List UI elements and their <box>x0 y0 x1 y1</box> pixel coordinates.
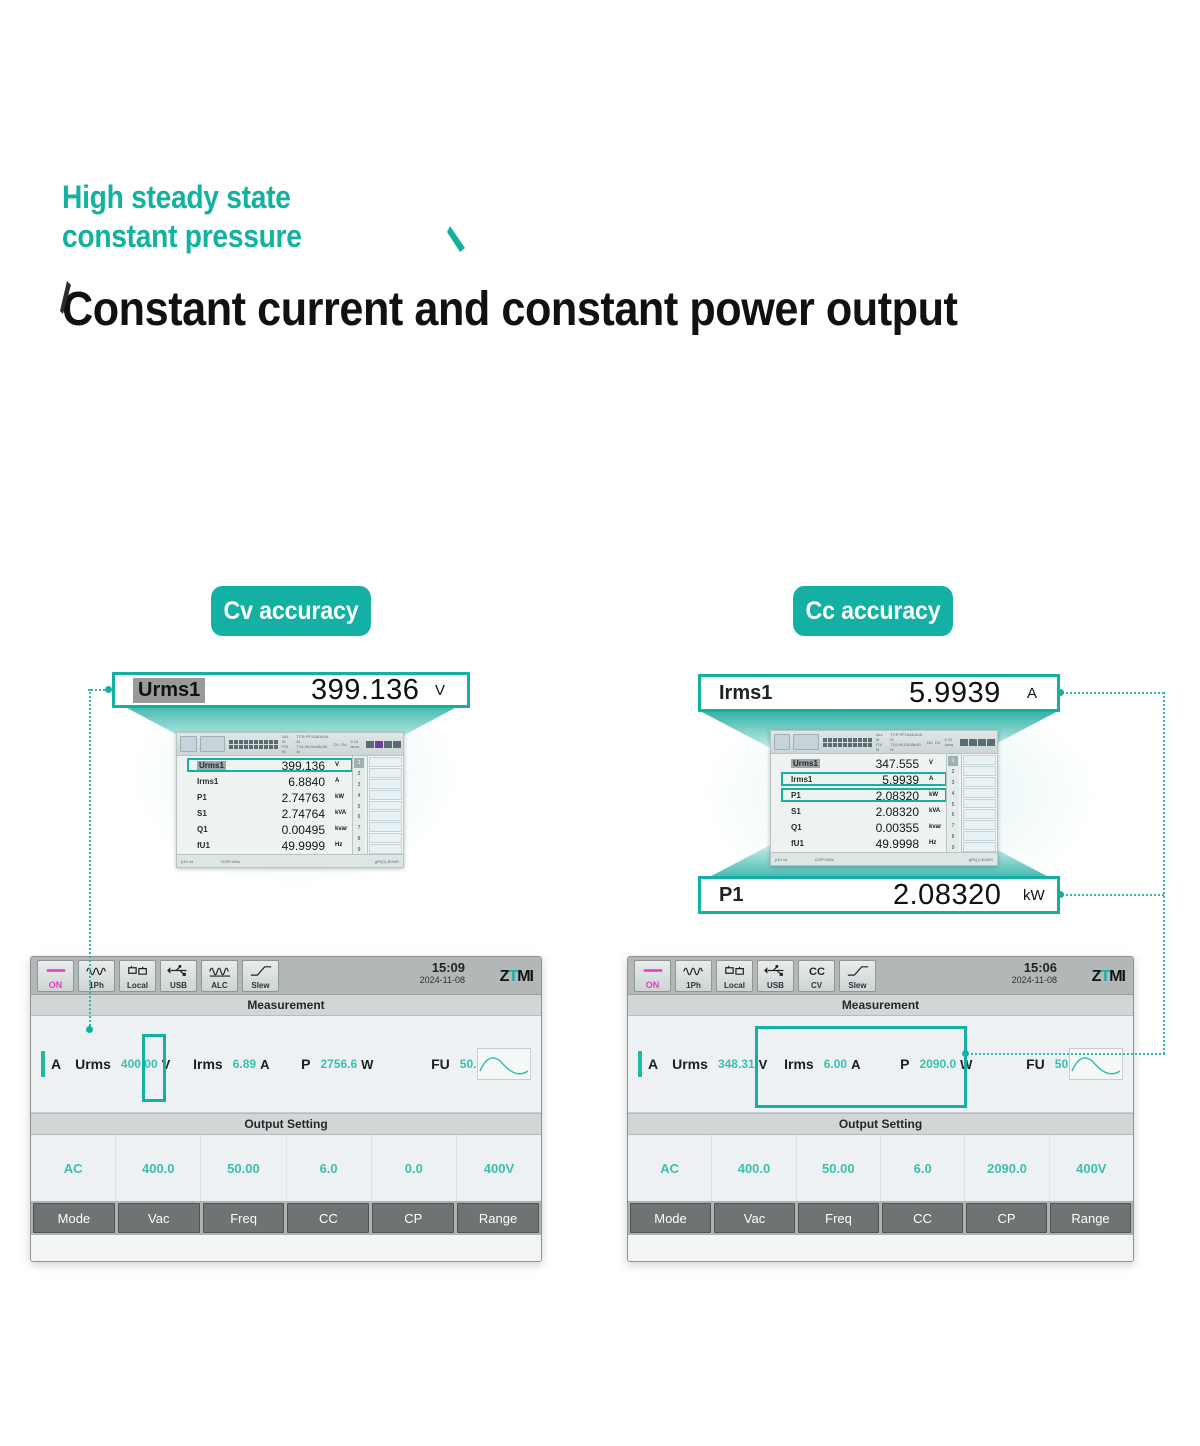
analyzer-status-text3: NU DX <box>927 740 941 745</box>
svg-text:CC: CC <box>809 966 825 977</box>
analyzer-row-value: 0.00355 <box>829 821 919 835</box>
device-clock: 15:06 2024-11-08 <box>1012 960 1057 986</box>
analyzer-soft-menu-item[interactable] <box>369 757 402 767</box>
device-measurement-area: AUrms400.00VIrms6.89AP2756.6WFU50.00Hz <box>31 1016 541 1113</box>
toolbar-button-alc[interactable]: ALC <box>201 960 238 992</box>
analyzer-row-unit: Hz <box>335 842 342 848</box>
analyzer-row-name: P1 <box>197 793 207 802</box>
analyzer-row: Urms1347.555V <box>779 755 945 771</box>
measurement-key: FU <box>1026 1056 1045 1072</box>
analyzer-indicator-bars <box>229 740 278 749</box>
analyzer-status-text4: 5 10 Area <box>350 739 366 749</box>
remote-icon <box>723 961 747 981</box>
output-value-4: 6.0 <box>287 1135 372 1201</box>
toolbar-button-label: ALC <box>211 981 227 990</box>
cc-callout-p1: P1 2.08320 kW <box>698 876 1060 914</box>
cc-connector-v <box>1163 692 1165 1054</box>
cc-callout-bottom-label: P1 <box>719 884 743 907</box>
toolbar-button-label: Local <box>724 981 745 990</box>
cc-callout-irms1: Irms1 5.9939 A <box>698 674 1060 712</box>
cc-accuracy-section: Cc accuracy Irms1 5.9939 A P1 2.08320 kW <box>600 0 1200 1446</box>
analyzer-soft-menu-item[interactable] <box>963 777 996 787</box>
analyzer-row-unit: kvar <box>335 826 347 832</box>
analyzer-soft-menu-item[interactable] <box>369 779 402 789</box>
device-measurement-row: AUrms400.00VIrms6.89AP2756.6WFU50.00Hz <box>31 1042 541 1086</box>
analyzer-row-unit: kvar <box>929 824 941 830</box>
usb-icon <box>764 964 788 977</box>
analyzer-row-name: Q1 <box>197 825 208 834</box>
sine-wave-icon <box>682 961 706 981</box>
analyzer-soft-menu-item[interactable] <box>963 831 996 841</box>
analyzer-row: fU149.9999Hz <box>185 837 351 853</box>
output-value-5: 2090.0 <box>965 1135 1049 1201</box>
analyzer-row-name: Irms1 <box>197 777 218 786</box>
cv-connector-end-dot <box>86 1026 93 1033</box>
cv-callout-connector-dot <box>105 686 112 693</box>
analyzer-side-index-item[interactable]: 7 <box>354 823 364 833</box>
measurement-irms: Irms6.89A <box>193 1056 301 1072</box>
analyzer-soft-menu-item[interactable] <box>369 811 402 821</box>
alc-wave-icon <box>208 964 232 977</box>
toolbar-button-label: Slew <box>251 981 269 990</box>
analyzer-row: Q10.00495kvar <box>185 821 351 837</box>
analyzer-soft-menu <box>367 756 403 855</box>
measurement-value: 2756.6 <box>320 1057 357 1071</box>
softkey-2[interactable]: Vac <box>714 1203 795 1233</box>
measurement-key: P <box>301 1056 310 1072</box>
analyzer-side-index-item[interactable]: 7 <box>948 821 958 831</box>
analyzer-soft-menu-item[interactable] <box>963 799 996 809</box>
analyzer-row-value: 2.74763 <box>235 791 325 805</box>
softkey-1[interactable]: Mode <box>33 1203 115 1233</box>
device-output-setting-label: Output Setting <box>31 1113 541 1135</box>
analyzer-soft-menu-item[interactable] <box>963 842 996 852</box>
analyzer-indicator-bars <box>823 738 872 747</box>
softkey-4[interactable]: CC <box>882 1203 963 1233</box>
device-output-values: AC400.050.006.02090.0400V <box>628 1135 1133 1201</box>
toolbar-button-label: 1Ph <box>686 981 701 990</box>
remote-icon <box>723 964 747 977</box>
usb-icon <box>167 961 191 981</box>
analyzer-soft-menu-item[interactable] <box>369 790 402 800</box>
toolbar-button-on[interactable]: ON <box>37 960 74 992</box>
toolbar-button-on[interactable]: ON <box>634 960 671 992</box>
power-line-icon <box>641 961 665 981</box>
analyzer-window-buttons <box>960 739 997 746</box>
analyzer-row-value: 6.8840 <box>235 775 325 789</box>
analyzer-row: S12.74764kVA <box>185 805 351 821</box>
device-time: 15:09 <box>420 960 465 975</box>
analyzer-row-value: 49.9999 <box>235 839 325 853</box>
brand-logo: ZTMI <box>1092 968 1125 986</box>
analyzer-statusbar: p10 n4 t22Pt t4Nu gFtt(1) $1N/R <box>177 854 403 867</box>
brand-logo: ZTMI <box>500 968 533 986</box>
analyzer-titlebar: ALL MFIX M TCR PF10ADA0A MT10-90,DA45u30… <box>177 733 403 756</box>
analyzer-side-index-item[interactable]: 3 <box>948 778 958 788</box>
measurement-key: FU <box>431 1056 450 1072</box>
analyzer-row-value: 347.555 <box>829 757 919 771</box>
output-value-3: 50.00 <box>201 1135 286 1201</box>
analyzer-row: Q10.00355kvar <box>779 819 945 835</box>
toolbar-button-label: ON <box>49 981 63 990</box>
analyzer-soft-menu-item[interactable] <box>369 844 402 854</box>
analyzer-row-name: Q1 <box>791 823 802 832</box>
analyzer-side-index: 123456789 <box>352 756 365 855</box>
analyzer-soft-menu-item[interactable] <box>963 809 996 819</box>
waveform-preview[interactable] <box>477 1048 531 1080</box>
device-softkeys: ModeVacFreqCCCPRange <box>628 1201 1133 1235</box>
analyzer-row-value: 49.9998 <box>829 837 919 851</box>
cv-accuracy-section: Cv accuracy Urms1 399.136 V ALL MFIX M <box>0 0 600 1446</box>
measurement-p: P2756.6W <box>301 1056 431 1072</box>
cv-device-screen: ON1PhLocalUSBALCSlew 15:09 2024-11-08 ZT… <box>30 956 542 1262</box>
analyzer-soft-menu-item[interactable] <box>369 768 402 778</box>
analyzer-soft-menu-item[interactable] <box>369 801 402 811</box>
analyzer-row-value: 2.74764 <box>235 807 325 821</box>
cc-connector-h-end <box>966 1053 1165 1055</box>
slew-ramp-icon <box>249 964 273 977</box>
cc-power-analyzer-screenshot: ALL MFIX M TCR PF10ADA0A MT10-90,DA45u30… <box>770 730 998 866</box>
output-value-1: AC <box>31 1135 116 1201</box>
analyzer-side-index-item[interactable]: 1 <box>354 758 364 768</box>
analyzer-row: S12.08320kVA <box>779 803 945 819</box>
measurement-value: 348.31 <box>718 1057 755 1071</box>
measurement-key: Urms <box>75 1056 111 1072</box>
output-value-6: 400V <box>457 1135 541 1201</box>
toolbar-button-label: Slew <box>848 981 866 990</box>
output-value-2: 400.0 <box>116 1135 201 1201</box>
device-toolbar: ON1PhLocalUSBCCCVSlew 15:06 2024-11-08 Z… <box>628 957 1133 995</box>
analyzer-soft-menu <box>961 754 997 853</box>
cc-callout-bottom-connector-dot <box>1057 891 1064 898</box>
cv-accuracy-badge-label: Cv accuracy <box>224 597 359 626</box>
analyzer-status-text2: TCR PF10ADA0A MT10-90,DA45u30 M <box>890 732 923 752</box>
measurement-unit: A <box>260 1057 269 1072</box>
analyzer-side-index-item[interactable]: 3 <box>354 780 364 790</box>
softkey-6[interactable]: Range <box>457 1203 539 1233</box>
toolbar-button-cv[interactable]: CCCV <box>798 960 835 992</box>
measurement-key: Urms <box>672 1056 708 1072</box>
analyzer-row-unit: kVA <box>929 808 940 814</box>
toolbar-button-slew[interactable]: Slew <box>839 960 876 992</box>
toolbar-button-label: CV <box>811 981 822 990</box>
analyzer-side-index-item[interactable]: 5 <box>948 800 958 810</box>
toolbar-button-label: 1Ph <box>89 981 104 990</box>
cc-device-screen: ON1PhLocalUSBCCCVSlew 15:06 2024-11-08 Z… <box>627 956 1134 1262</box>
analyzer-row: Irms16.8840A <box>185 773 351 789</box>
output-value-2: 400.0 <box>712 1135 796 1201</box>
analyzer-chip <box>200 736 226 752</box>
toolbar-button-usb[interactable]: USB <box>160 960 197 992</box>
analyzer-status-text4: 5 10 Area <box>945 737 960 747</box>
slew-ramp-icon <box>249 961 273 981</box>
device-date: 2024-11-08 <box>420 975 465 986</box>
toolbar-button-slew[interactable]: Slew <box>242 960 279 992</box>
toolbar-button-1ph[interactable]: 1Ph <box>675 960 712 992</box>
device-page-title: Measurement <box>628 995 1133 1016</box>
cc-accuracy-badge: Cc accuracy <box>793 586 953 636</box>
analyzer-status-text3: CU Ru <box>333 742 346 747</box>
phase-indicator <box>41 1051 45 1077</box>
cv-connector-v <box>89 689 91 1029</box>
output-value-3: 50.00 <box>797 1135 881 1201</box>
analyzer-row-name: Urms1 <box>791 759 820 768</box>
analyzer-row-highlight <box>187 758 353 772</box>
cc-callout-top-value: 5.9939 <box>909 677 1001 710</box>
measurement-key: Irms <box>193 1056 223 1072</box>
softkey-1[interactable]: Mode <box>630 1203 711 1233</box>
analyzer-row-name: S1 <box>791 807 801 816</box>
analyzer-side-index-item[interactable]: 1 <box>948 756 958 766</box>
power-line-icon <box>641 964 665 977</box>
analyzer-soft-menu-item[interactable] <box>963 820 996 830</box>
analyzer-row-name: fU1 <box>197 841 210 850</box>
cv-power-analyzer-screenshot: ALL MFIX M TCR PF10ADA0A MT10-90,DA45u30… <box>176 732 404 868</box>
analyzer-chip <box>774 734 790 750</box>
analyzer-status-text: ALL MFIX M <box>876 732 886 752</box>
analyzer-row-highlight <box>781 772 947 786</box>
power-line-icon <box>44 961 68 981</box>
softkey-6[interactable]: Range <box>1050 1203 1131 1233</box>
softkey-4[interactable]: CC <box>287 1203 369 1233</box>
analyzer-soft-menu-item[interactable] <box>369 822 402 832</box>
analyzer-side-index: 123456789 <box>946 754 959 853</box>
analyzer-side-index-item[interactable]: 5 <box>354 802 364 812</box>
output-value-6: 400V <box>1050 1135 1133 1201</box>
device-page-title: Measurement <box>31 995 541 1016</box>
device-output-setting-label: Output Setting <box>628 1113 1133 1135</box>
cc-text-icon: CC <box>805 964 829 977</box>
usb-icon <box>764 961 788 981</box>
output-value-5: 0.0 <box>372 1135 457 1201</box>
toolbar-button-label: USB <box>767 981 784 990</box>
analyzer-row-value: 0.00495 <box>235 823 325 837</box>
analyzer-row: P12.74763kW <box>185 789 351 805</box>
analyzer-row-name: fU1 <box>791 839 804 848</box>
device-clock: 15:09 2024-11-08 <box>420 960 465 986</box>
analyzer-side-index-item[interactable]: 4 <box>354 791 364 801</box>
cv-callout-value: 399.136 <box>311 674 419 707</box>
power-line-icon <box>44 964 68 977</box>
cc-connector-h-bottom <box>1062 894 1164 896</box>
cv-highlight-voltage-unit <box>142 1034 166 1102</box>
cv-accuracy-badge: Cv accuracy <box>211 586 371 636</box>
analyzer-row-unit: kW <box>335 794 344 800</box>
analyzer-row-unit: V <box>929 760 933 766</box>
analyzer-soft-menu-item[interactable] <box>963 755 996 765</box>
measurement-value: 6.89 <box>233 1057 256 1071</box>
analyzer-side-index-item[interactable]: 6 <box>948 810 958 820</box>
usb-icon <box>167 964 191 977</box>
cv-callout-urms1: Urms1 399.136 V <box>112 672 470 708</box>
softkey-5[interactable]: CP <box>966 1203 1047 1233</box>
output-value-4: 6.0 <box>881 1135 965 1201</box>
analyzer-row-unit: Hz <box>929 840 936 846</box>
slew-ramp-icon <box>846 964 870 977</box>
analyzer-row-unit: A <box>335 778 339 784</box>
cc-callout-top-unit: A <box>1027 685 1037 702</box>
toolbar-button-local[interactable]: Local <box>716 960 753 992</box>
toolbar-button-local[interactable]: Local <box>119 960 156 992</box>
toolbar-button-1ph[interactable]: 1Ph <box>78 960 115 992</box>
softkey-5[interactable]: CP <box>372 1203 454 1233</box>
phase-label: A <box>648 1056 658 1072</box>
analyzer-side-index-item[interactable]: 8 <box>354 834 364 844</box>
cc-callout-top-connector-dot <box>1057 689 1064 696</box>
cc-callout-top-label: Irms1 <box>719 682 772 705</box>
cc-callout-bottom-unit: kW <box>1023 887 1045 904</box>
toolbar-button-label: USB <box>170 981 187 990</box>
analyzer-row: fU149.9998Hz <box>779 835 945 851</box>
analyzer-side-index-item[interactable]: 8 <box>948 832 958 842</box>
cv-callout-unit: V <box>435 682 445 699</box>
cc-connector-h-top <box>1062 692 1164 694</box>
cc-callout-bottom-value: 2.08320 <box>893 879 1001 912</box>
remote-icon <box>126 961 150 981</box>
analyzer-row-highlight <box>781 788 947 802</box>
toolbar-button-usb[interactable]: USB <box>757 960 794 992</box>
cc-connector-end-dot <box>962 1050 969 1057</box>
softkey-3[interactable]: Freq <box>203 1203 285 1233</box>
remote-icon <box>126 964 150 977</box>
cc-highlight-irms-power-group <box>755 1026 967 1108</box>
toolbar-button-label: ON <box>646 981 660 990</box>
analyzer-soft-menu-item[interactable] <box>369 833 402 843</box>
analyzer-chip <box>793 734 818 750</box>
measurement-urms: Urms400.00V <box>75 1056 193 1072</box>
alc-wave-icon <box>208 961 232 981</box>
softkey-3[interactable]: Freq <box>798 1203 879 1233</box>
slew-ramp-icon <box>846 961 870 981</box>
device-output-values: AC400.050.006.00.0400V <box>31 1135 541 1201</box>
device-date: 2024-11-08 <box>1012 975 1057 986</box>
analyzer-row-value: 2.08320 <box>829 805 919 819</box>
cc-text-icon: CC <box>805 961 829 981</box>
analyzer-side-index-item[interactable]: 2 <box>948 767 958 777</box>
cv-callout-label: Urms1 <box>133 678 205 703</box>
cc-accuracy-badge-label: Cc accuracy <box>806 597 941 626</box>
analyzer-status-text: ALL MFIX M <box>282 734 292 754</box>
analyzer-side-index-item[interactable]: 4 <box>948 789 958 799</box>
measurement-unit: W <box>361 1057 373 1072</box>
sine-wave-icon <box>682 964 706 977</box>
analyzer-chip <box>180 736 197 752</box>
analyzer-soft-menu-item[interactable] <box>963 766 996 776</box>
softkey-2[interactable]: Vac <box>118 1203 200 1233</box>
device-time: 15:06 <box>1012 960 1057 975</box>
analyzer-row-unit: kVA <box>335 810 346 816</box>
device-toolbar: ON1PhLocalUSBALCSlew 15:09 2024-11-08 ZT… <box>31 957 541 995</box>
analyzer-status-text2: TCR PF10ADA0A MT10-90,DA45u30 M <box>296 734 329 754</box>
analyzer-side-index-item[interactable]: 6 <box>354 812 364 822</box>
device-softkeys: ModeVacFreqCCCPRange <box>31 1201 541 1235</box>
output-value-1: AC <box>628 1135 712 1201</box>
analyzer-titlebar: ALL MFIX M TCR PF10ADA0A MT10-90,DA45u30… <box>771 731 997 754</box>
analyzer-side-index-item[interactable]: 2 <box>354 769 364 779</box>
analyzer-statusbar: p10 n4 t22Pt t4Nu gFtt(1) $1N/R <box>771 852 997 865</box>
analyzer-row-name: S1 <box>197 809 207 818</box>
analyzer-soft-menu-item[interactable] <box>963 788 996 798</box>
phase-indicator <box>638 1051 642 1077</box>
toolbar-button-label: Local <box>127 981 148 990</box>
phase-label: A <box>51 1056 61 1072</box>
analyzer-window-buttons <box>366 741 403 748</box>
